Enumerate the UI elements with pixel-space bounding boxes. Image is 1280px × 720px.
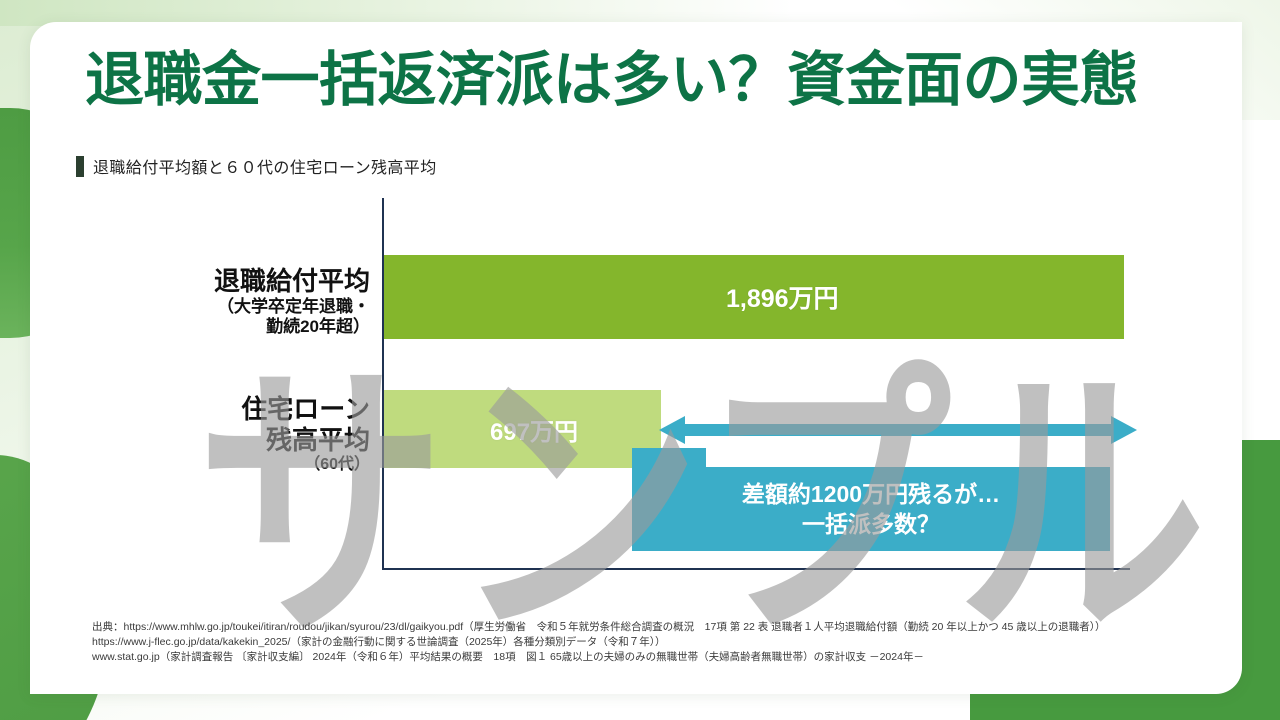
bar-mortgage-balance: 697万円 xyxy=(384,390,661,468)
source-line-3: www.stat.go.jp（家計調査報告 〔家計収支編〕 2024年（令和６年… xyxy=(92,650,1212,665)
category-1-sub-line2: 勤続20年超） xyxy=(106,317,370,338)
callout-line-2: 一括派多数？ xyxy=(802,509,940,539)
category-1-main: 退職給付平均 xyxy=(106,266,370,297)
subtitle-accent-bar xyxy=(76,156,84,177)
chart-axis-horizontal xyxy=(382,568,1130,570)
source-notes: 出典：https://www.mhlw.go.jp/toukei/itiran/… xyxy=(92,620,1212,665)
subtitle-row: 退職給付平均額と６０代の住宅ローン残高平均 xyxy=(76,154,437,178)
bar-1-value-label: 1,896万円 xyxy=(726,279,839,315)
callout-line-1: 差額約1200万円残るが… xyxy=(742,479,1000,509)
bar-chart: 退職給付平均 （大学卒定年退職・ 勤続20年超） 住宅ローン 残高平均 （60代… xyxy=(76,190,1196,600)
category-label-retirement-benefit: 退職給付平均 （大学卒定年退職・ 勤続20年超） xyxy=(106,266,370,338)
category-2-main-line1: 住宅ローン xyxy=(106,394,370,425)
category-1-sub-line1: （大学卒定年退職・ xyxy=(106,297,370,318)
source-line-1: 出典：https://www.mhlw.go.jp/toukei/itiran/… xyxy=(92,620,1212,635)
bar-2-value-label: 697万円 xyxy=(490,412,578,447)
callout-tail xyxy=(632,448,706,468)
difference-double-arrow-icon xyxy=(659,415,1137,445)
chart-axis-vertical xyxy=(382,198,384,570)
subtitle-text: 退職給付平均額と６０代の住宅ローン残高平均 xyxy=(93,154,437,178)
bar-retirement-benefit: 1,896万円 xyxy=(384,255,1124,339)
source-line-2: https://www.j-flec.go.jp/data/kakekin_20… xyxy=(92,635,1212,650)
page-title: 退職金一括返済派は多い？資金面の実態 xyxy=(85,50,1205,111)
content-card: 退職金一括返済派は多い？資金面の実態 退職給付平均額と６０代の住宅ローン残高平均… xyxy=(30,22,1242,694)
category-2-main-line2: 残高平均 xyxy=(106,425,370,456)
callout-box: 差額約1200万円残るが… 一括派多数？ xyxy=(632,467,1110,551)
category-label-mortgage-balance: 住宅ローン 残高平均 （60代） xyxy=(106,394,370,475)
category-2-sub-line1: （60代） xyxy=(106,455,370,475)
